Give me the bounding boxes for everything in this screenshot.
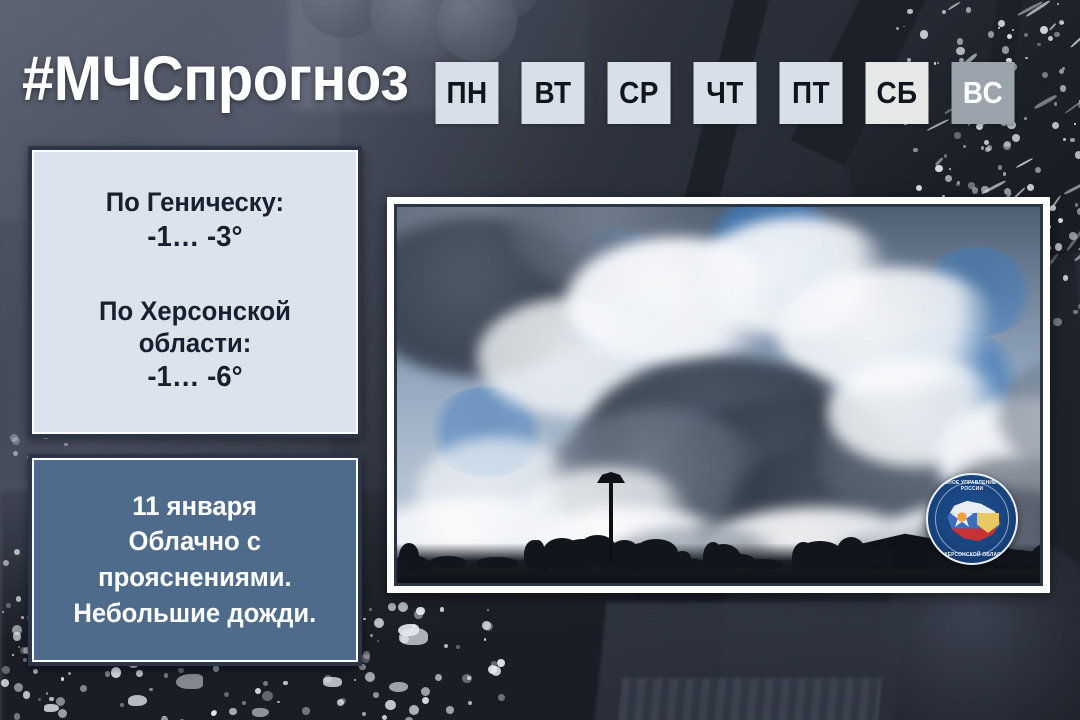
- weekday-button-пн[interactable]: ПН: [436, 62, 499, 124]
- droplet: [1075, 203, 1078, 206]
- region-label: По Херсонской области:: [52, 296, 339, 359]
- weekday-label: ЧТ: [706, 75, 744, 111]
- droplet: [1073, 310, 1077, 314]
- droplet: [1037, 43, 1041, 47]
- droplet: [981, 146, 984, 149]
- droplet: [998, 27, 1000, 29]
- droplet: [213, 665, 219, 671]
- droplet: [984, 140, 989, 145]
- weekday-button-пт[interactable]: ПТ: [780, 62, 843, 124]
- weekday-button-сб[interactable]: СБ: [866, 62, 929, 124]
- droplet: [105, 671, 110, 676]
- page-title: #МЧСпрогноз: [22, 48, 408, 111]
- weekday-label: ВС: [963, 75, 1003, 111]
- tree: [709, 553, 755, 569]
- droplet: [998, 20, 1005, 27]
- droplet: [340, 698, 346, 704]
- droplet-blob: [176, 674, 203, 689]
- droplet: [1053, 318, 1061, 326]
- tree: [476, 557, 518, 568]
- weather-photo-frame: ГЛАВНОЕ УПРАВЛЕНИЕ МЧС РОССИИ по ХЕРСОНС…: [387, 197, 1050, 593]
- droplet: [263, 681, 268, 686]
- droplet: [369, 608, 372, 611]
- droplet: [58, 709, 67, 718]
- droplet: [161, 716, 168, 720]
- tree: [430, 556, 466, 569]
- droplet: [1055, 243, 1063, 251]
- tree: [792, 542, 814, 573]
- droplet-blob: [399, 628, 429, 644]
- tree: [875, 547, 896, 569]
- droplet: [1075, 151, 1080, 159]
- region-temperature-block: По Херсонской области: -1… -6°: [44, 296, 346, 396]
- droplet: [382, 715, 387, 720]
- forecast-date: 11 января: [133, 489, 258, 525]
- droplet: [497, 659, 505, 667]
- city-temperature-block: По Геническу: -1… -3°: [101, 187, 289, 256]
- droplet: [1059, 20, 1064, 25]
- forecast-description-panel: 11 января Облачно с прояснениями. Неболь…: [28, 454, 362, 666]
- weekday-label: ПН: [446, 75, 487, 111]
- droplet: [1003, 172, 1007, 176]
- droplet: [224, 692, 229, 697]
- droplet: [14, 713, 20, 719]
- droplet: [913, 148, 917, 152]
- weekday-label: СР: [619, 75, 659, 111]
- droplet: [6, 603, 10, 607]
- droplet: [374, 618, 384, 628]
- droplet: [1027, 184, 1034, 191]
- emblem-bottom-text: по ХЕРСОНСКОЙ ОБЛАСТИ: [932, 552, 1011, 558]
- mchs-emblem: ГЛАВНОЕ УПРАВЛЕНИЕ МЧС РОССИИ по ХЕРСОНС…: [926, 473, 1018, 565]
- droplet: [242, 701, 246, 705]
- weekday-label: ПТ: [792, 75, 830, 111]
- forecast-infographic: #МЧСпрогноз ПНВТСРЧТПТСБВС По Геническу:…: [0, 0, 1080, 720]
- droplet: [16, 596, 22, 602]
- droplet: [49, 697, 53, 701]
- droplet: [1004, 141, 1010, 147]
- droplet: [409, 705, 419, 715]
- droplet: [968, 182, 974, 188]
- weekday-button-вс[interactable]: ВС: [952, 62, 1015, 124]
- droplet: [957, 38, 963, 44]
- droplet: [1042, 72, 1048, 78]
- droplet: [446, 706, 454, 714]
- emblem-text: ГЛАВНОЕ УПРАВЛЕНИЕ МЧС РОССИИ по ХЕРСОНС…: [928, 475, 1016, 563]
- lamp-post-pole: [609, 478, 613, 563]
- droplet: [211, 711, 216, 716]
- droplet: [1074, 123, 1076, 125]
- droplet: [120, 703, 124, 707]
- droplet: [164, 673, 169, 678]
- weekday-button-вт[interactable]: ВТ: [522, 62, 585, 124]
- droplet: [302, 707, 310, 715]
- droplet: [944, 154, 947, 157]
- droplet: [1024, 117, 1027, 120]
- droplet: [484, 638, 487, 641]
- droplet: [377, 640, 379, 642]
- droplet: [13, 451, 18, 456]
- droplet: [388, 603, 395, 610]
- droplet: [262, 691, 272, 701]
- weather-photo: ГЛАВНОЕ УПРАВЛЕНИЕ МЧС РОССИИ по ХЕРСОНС…: [394, 204, 1043, 586]
- droplet: [498, 694, 505, 701]
- emblem-top-text: ГЛАВНОЕ УПРАВЛЕНИЕ МЧС РОССИИ: [932, 480, 1011, 492]
- droplet: [354, 679, 356, 681]
- droplet-blob: [323, 677, 342, 687]
- tree: [1042, 546, 1043, 566]
- droplet: [440, 607, 444, 611]
- droplet: [435, 674, 442, 681]
- droplet: [998, 165, 1002, 169]
- droplet: [1024, 33, 1028, 37]
- droplet: [956, 47, 964, 55]
- forecast-line-1: Облачно с: [129, 524, 262, 560]
- weekday-button-ср[interactable]: СР: [608, 62, 671, 124]
- temperature-panel: По Геническу: -1… -3° По Херсонской обла…: [28, 146, 362, 438]
- city-temperature-value: -1… -3°: [106, 219, 284, 257]
- droplet: [907, 9, 912, 14]
- droplet: [283, 681, 288, 686]
- droplet: [1012, 134, 1020, 142]
- droplet: [111, 667, 121, 677]
- droplet: [385, 700, 395, 710]
- droplet: [23, 691, 30, 698]
- weekday-selector[interactable]: ПНВТСРЧТПТСБВС: [432, 62, 1018, 124]
- droplet: [229, 708, 236, 715]
- droplet: [444, 644, 448, 648]
- region-temperature-value: -1… -6°: [52, 359, 339, 397]
- droplet: [1060, 85, 1067, 92]
- droplet: [13, 632, 21, 640]
- droplet: [178, 668, 184, 674]
- tree: [535, 559, 550, 571]
- droplet: [149, 688, 152, 691]
- weekday-label: ВТ: [534, 75, 571, 111]
- droplet: [68, 672, 71, 675]
- droplet: [1048, 36, 1053, 41]
- weekday-label: СБ: [876, 75, 917, 111]
- droplet: [21, 616, 24, 619]
- droplet: [491, 666, 501, 676]
- droplet: [1070, 138, 1075, 143]
- tree: [844, 543, 877, 569]
- forecast-line-3: Небольшие дожди.: [74, 596, 317, 632]
- droplet: [361, 654, 370, 663]
- droplet: [920, 30, 928, 38]
- tree: [614, 562, 630, 571]
- forecast-line-2: прояснениями.: [98, 560, 292, 596]
- droplet: [949, 168, 951, 170]
- droplet: [966, 7, 972, 13]
- tree: [634, 539, 678, 566]
- droplet: [1, 679, 8, 686]
- droplet: [2, 666, 10, 674]
- tree: [550, 551, 591, 572]
- droplet: [1063, 138, 1066, 141]
- droplet: [373, 692, 378, 697]
- droplet: [363, 618, 365, 620]
- city-label: По Геническу:: [106, 187, 284, 218]
- droplet: [1054, 102, 1057, 105]
- weekday-button-чт[interactable]: ЧТ: [694, 62, 757, 124]
- droplet: [46, 692, 48, 694]
- droplet: [1077, 208, 1080, 215]
- droplet: [3, 560, 9, 566]
- droplet: [954, 132, 961, 139]
- droplet: [18, 646, 20, 648]
- droplet: [942, 10, 946, 14]
- droplet: [416, 607, 424, 615]
